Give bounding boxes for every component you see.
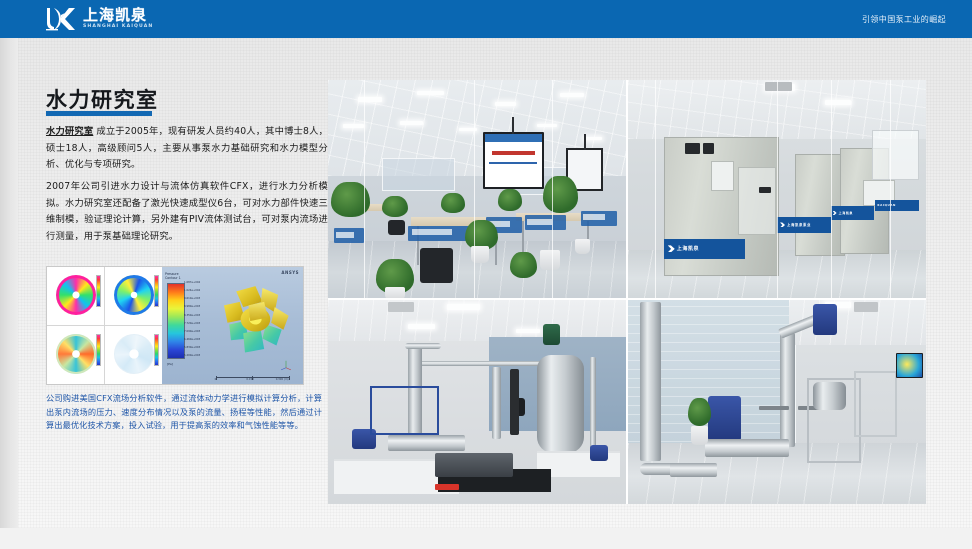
screen-mount (584, 134, 586, 150)
tank-valve-actuator (543, 324, 561, 344)
legend-tick: 1.024e+004 (184, 290, 200, 293)
impeller-contour-faint (114, 334, 154, 374)
photo-pump-test-hall[interactable] (628, 300, 926, 504)
legend-tick: 5.830e+003 (184, 347, 200, 350)
legend-unit: [Pa] (167, 362, 173, 366)
scale-label: 0.150 (246, 378, 253, 381)
legend-tick: 5.200e+003 (184, 355, 200, 358)
brand-name-en: SHANGHAI KAIQUAN (83, 25, 153, 30)
impeller-contour-velocity (114, 275, 154, 315)
slide-root: 上海凯泉 SHANGHAI KAIQUAN 引领中国泵工业的崛起 水力研究室 水… (0, 0, 972, 549)
cfd-display-monitor (896, 353, 923, 377)
cfd-contour-cell-4 (105, 326, 162, 384)
paragraph-intro: 水力研究室 成立于2005年，现有研发人员约40人，其中博士8人，硕士18人，高… (46, 124, 328, 174)
brand-logo[interactable]: 上海凯泉 SHANGHAI KAIQUAN (44, 6, 153, 32)
photo-laser-prototyping-machines[interactable]: 上海凯泉 上海凯泉泵业 上海凯泉 KAIQUAN (628, 80, 926, 298)
legend-subtitle-text: Contour 1 (165, 276, 181, 280)
machine-secondary (795, 154, 845, 256)
wall-poster (872, 130, 919, 180)
blue-frame (370, 386, 440, 435)
small-pump-motor (590, 445, 608, 461)
pump-suction-pipe (705, 439, 788, 457)
brand-band-text: KAIQUAN (877, 203, 896, 207)
page-title: 水力研究室 (46, 84, 159, 114)
glass-brand-band: 上海凯泉 (664, 239, 745, 259)
kaiquan-k-mark-icon (780, 222, 785, 227)
colorbar-icon (154, 334, 159, 366)
legend-tick: 6.460e+003 (184, 339, 200, 342)
cfd-contour-cell-3 (47, 326, 104, 384)
colorbar-icon (154, 275, 159, 307)
brand-band-text: 上海凯泉 (677, 245, 699, 252)
impeller-3d-geometry-icon (210, 276, 297, 370)
legend-tick: 7.720e+003 (184, 323, 200, 326)
pump-body (388, 435, 465, 451)
colorbar-icon (96, 275, 101, 307)
brand-name-cn: 上海凯泉 (83, 8, 153, 23)
legend-tick: 1.087e+004 (184, 282, 200, 285)
kaiquan-k-mark-icon (833, 211, 837, 215)
legend-tick: 9.610e+003 (184, 298, 200, 301)
scale-label: 0 (215, 378, 217, 381)
kaiquan-k-mark-icon (44, 6, 78, 32)
desk-brand-band (525, 215, 567, 230)
page-header: 上海凯泉 SHANGHAI KAIQUAN 引领中国泵工业的崛起 (0, 0, 972, 38)
inline-pump-motor (708, 396, 741, 441)
impeller-contour-streamline (56, 334, 96, 374)
inline-pump-motor-top (813, 304, 837, 335)
kaiquan-k-mark-icon (668, 245, 675, 252)
title-underline (46, 111, 152, 116)
photo-grid: 上海凯泉 上海凯泉泵业 上海凯泉 KAIQUAN (328, 80, 926, 504)
piv-laser-unit (435, 453, 512, 477)
riser-pipe (492, 367, 501, 438)
transparent-test-chamber (813, 382, 846, 411)
desk-brand-band (334, 228, 364, 243)
vertical-pipe (780, 333, 795, 447)
paragraph-intro-lead: 水力研究室 (46, 126, 93, 137)
legend-tick: 8.980e+003 (184, 306, 200, 309)
impeller-contour-pressure (56, 275, 96, 315)
cfd-3d-render: ANSYS Pressure Contour 1 1.087e+004 1.02… (162, 267, 303, 384)
glass-brand-band: 上海凯泉泵业 (777, 217, 831, 232)
axis-triad-icon (279, 358, 293, 372)
cfd-contour-grid (47, 267, 162, 384)
brand-logo-text: 上海凯泉 SHANGHAI KAIQUAN (83, 8, 153, 30)
machine-poster (711, 161, 734, 191)
presentation-screen (483, 132, 544, 188)
acrylic-enclosure (854, 371, 897, 436)
scale-label: 0.300 (m) (276, 378, 289, 381)
glass-brand-band: 上海凯泉 (831, 206, 875, 219)
brand-band-text: 上海凯泉 (839, 211, 853, 215)
header-slogan: 引领中国泵工业的崛起 (862, 0, 946, 38)
left-margin-strip (0, 38, 18, 528)
cfd-contour-cell-1 (47, 267, 104, 325)
cfd-caption: 公司购进美国CFX流场分析软件，通过流体动力学进行模拟计算分析，计算出泵内流场的… (46, 392, 322, 433)
paragraph-software: 2007年公司引进水力设计与流体仿真软件CFX，进行水力分析模拟。水力研究室还配… (46, 179, 328, 245)
large-vertical-pipe (640, 302, 661, 461)
pressure-tank (537, 355, 585, 453)
pressure-legend-ticks: 1.087e+004 1.024e+004 9.610e+003 8.980e+… (184, 282, 200, 358)
ansys-watermark: ANSYS (281, 270, 299, 275)
pressure-legend-colorbar (167, 283, 185, 359)
background-bottom-strip (0, 528, 972, 549)
pipe-elbow (405, 343, 441, 349)
legend-tick: 8.350e+003 (184, 315, 200, 318)
glass-brand-band: KAIQUAN (875, 200, 919, 211)
cfd-contour-cell-2 (105, 267, 162, 325)
pump-discharge-flange (670, 463, 718, 477)
side-pipe (590, 357, 596, 451)
photo-research-office[interactable] (328, 80, 626, 298)
photo-piv-test-rig[interactable] (328, 300, 626, 504)
legend-tick: 7.090e+003 (184, 331, 200, 334)
legend-title: Pressure Contour 1 (165, 272, 181, 280)
desk-brand-band (581, 211, 617, 226)
colorbar-icon (96, 334, 101, 366)
cfd-figure: ANSYS Pressure Contour 1 1.087e+004 1.02… (46, 266, 304, 385)
screen-mount (512, 117, 514, 135)
scale-bar: 0 0.150 0.300 (m) (216, 374, 289, 381)
brand-band-text: 上海凯泉泵业 (787, 222, 811, 227)
